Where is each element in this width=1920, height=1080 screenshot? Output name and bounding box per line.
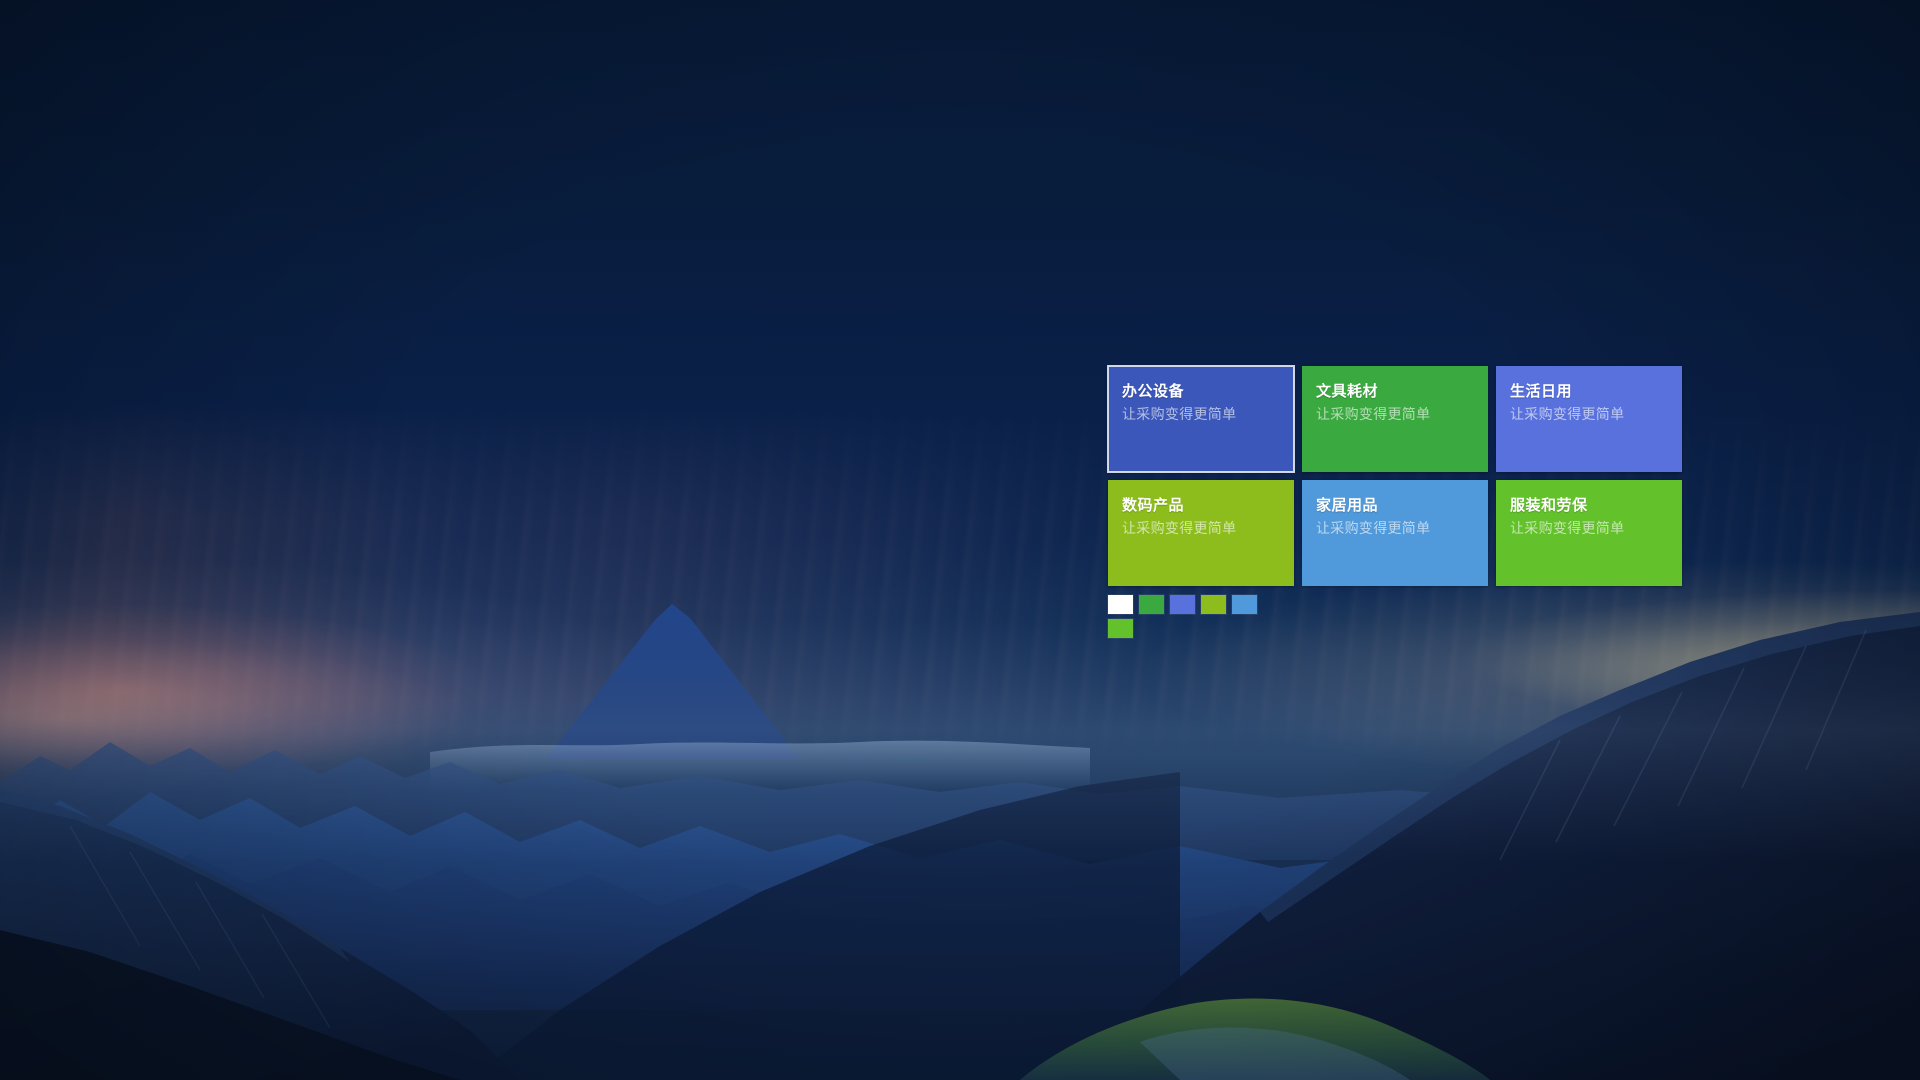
tile-subtitle: 让采购变得更简单 [1316, 404, 1488, 424]
tile-title: 文具耗材 [1316, 382, 1488, 402]
tile-office-equipment[interactable]: 办公设备 让采购变得更简单 [1108, 366, 1294, 472]
tile-stationery-consumables[interactable]: 文具耗材 让采购变得更简单 [1302, 366, 1488, 472]
color-swatch-palette [1108, 595, 1268, 638]
swatch-green[interactable] [1139, 595, 1164, 614]
swatch-indigo[interactable] [1170, 595, 1195, 614]
tile-subtitle: 让采购变得更简单 [1122, 518, 1294, 538]
tile-title: 生活日用 [1510, 382, 1682, 402]
tile-subtitle: 让采购变得更简单 [1510, 518, 1682, 538]
swatch-lime-green[interactable] [1108, 619, 1133, 638]
tile-daily-necessities[interactable]: 生活日用 让采购变得更简单 [1496, 366, 1682, 472]
tile-title: 数码产品 [1122, 496, 1294, 516]
swatch-olive[interactable] [1201, 595, 1226, 614]
tile-subtitle: 让采购变得更简单 [1510, 404, 1682, 424]
tile-digital-products[interactable]: 数码产品 让采购变得更简单 [1108, 480, 1294, 586]
tile-subtitle: 让采购变得更简单 [1122, 404, 1294, 424]
tile-title: 家居用品 [1316, 496, 1488, 516]
swatch-white[interactable] [1108, 595, 1133, 614]
tile-title: 服装和劳保 [1510, 496, 1682, 516]
tile-title: 办公设备 [1122, 382, 1294, 402]
desktop: 办公设备 让采购变得更简单 文具耗材 让采购变得更简单 生活日用 让采购变得更简… [0, 0, 1920, 1080]
tile-home-supplies[interactable]: 家居用品 让采购变得更简单 [1302, 480, 1488, 586]
tile-grid: 办公设备 让采购变得更简单 文具耗材 让采购变得更简单 生活日用 让采购变得更简… [1108, 366, 1680, 586]
tile-apparel-labor-protection[interactable]: 服装和劳保 让采购变得更简单 [1496, 480, 1682, 586]
tile-subtitle: 让采购变得更简单 [1316, 518, 1488, 538]
swatch-sky-blue[interactable] [1232, 595, 1257, 614]
